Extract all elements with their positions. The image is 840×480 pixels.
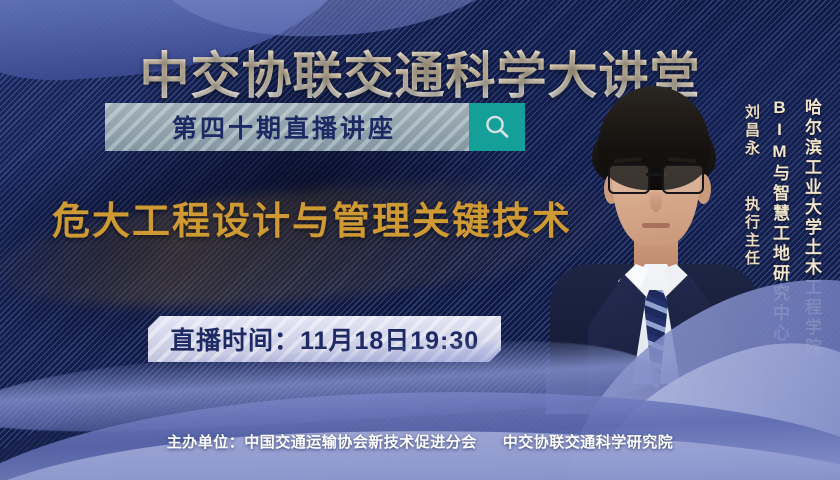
ribbon-top-secondary — [148, 0, 532, 45]
portrait-mouth — [642, 223, 670, 228]
footer-organizers: 主办单位：中国交通运输协会新技术促进分会中交协联交通科学研究院 — [0, 431, 840, 452]
lecture-headline: 危大工程设计与管理关键技术 — [52, 190, 572, 245]
live-time-value: 11月18日19:30 — [300, 321, 479, 357]
glasses-icon — [608, 164, 704, 190]
speaker-title: 执行主任 — [741, 196, 762, 268]
footer-org-1: 中国交通运输协会新技术促进分会 — [244, 434, 477, 451]
portrait-nose — [650, 190, 662, 212]
episode-label: 第四十期直播讲座 — [105, 103, 469, 151]
speaker-center: BIM与智慧工地研究中心 — [767, 98, 792, 344]
speaker-school: 哈尔滨工业大学土木工程学院 — [799, 98, 824, 358]
footer-org-2: 中交协联交通科学研究院 — [503, 434, 674, 451]
episode-banner: 第四十期直播讲座 — [105, 103, 525, 151]
portrait-fringe — [602, 104, 706, 152]
search-icon[interactable] — [469, 103, 525, 151]
footer-label: 主办单位： — [167, 434, 245, 451]
speaker-name: 刘昌永 — [741, 104, 762, 158]
episode-banner-body: 第四十期直播讲座 — [105, 103, 469, 151]
live-time-badge: 直播时间：11月18日19:30 — [148, 316, 501, 362]
speaker-portrait — [556, 78, 752, 408]
gold-glow-swoosh — [0, 162, 634, 327]
live-lecture-poster: 中交协联交通科学大讲堂 第四十期直播讲座 危大工程设计与管理关键技术 直播时间：… — [0, 0, 840, 480]
live-time-label: 直播时间： — [170, 321, 300, 357]
portrait-bottom-fade — [546, 354, 762, 414]
